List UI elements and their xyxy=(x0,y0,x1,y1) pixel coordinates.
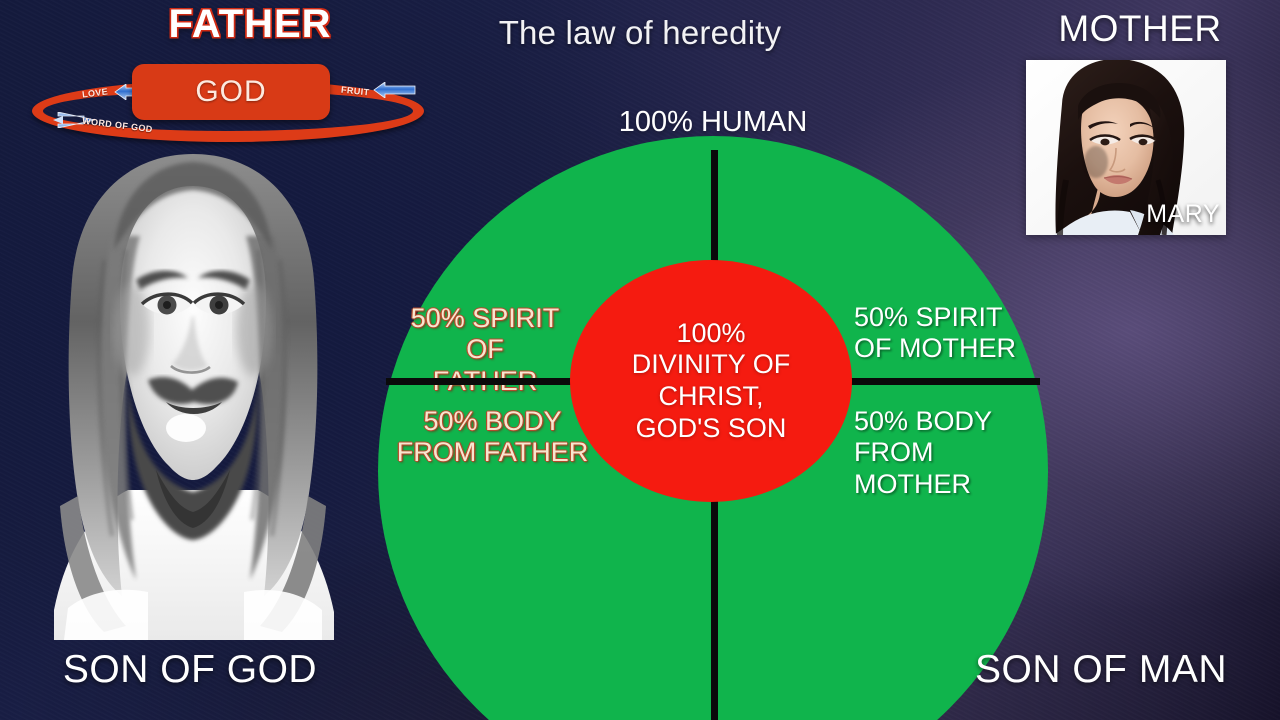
quad-line: 50% BODY xyxy=(854,406,1054,437)
father-heading: FATHER xyxy=(110,2,390,47)
god-plate-label: GOD xyxy=(195,75,266,109)
slide-canvas: The law of heredity FATHER LOVE FRUIT WO… xyxy=(0,0,1280,720)
quad-line: 50% SPIRIT OF xyxy=(390,303,580,366)
quadrant-body-from-father: 50% BODY FROM FATHER xyxy=(390,406,595,469)
quadrant-spirit-of-mother: 50% SPIRIT OF MOTHER xyxy=(854,302,1054,365)
label-100-percent-human: 100% HUMAN xyxy=(378,106,1048,139)
heredity-diagram: 100% HUMAN 50% SPIRIT OF FATHER 50% BODY… xyxy=(378,136,1048,720)
quad-line: OF MOTHER xyxy=(854,333,1054,364)
mother-heading: MOTHER xyxy=(1000,8,1280,50)
core-text-block: 100% DIVINITY OF CHRIST, GOD'S SON xyxy=(632,318,791,444)
core-line: DIVINITY OF xyxy=(632,349,791,381)
jesus-portrait-image xyxy=(8,140,378,640)
quadrant-body-from-mother: 50% BODY FROM MOTHER xyxy=(854,406,1054,500)
god-plate: GOD xyxy=(132,64,330,120)
quad-line: 50% BODY xyxy=(390,406,595,437)
red-core-circle: 100% DIVINITY OF CHRIST, GOD'S SON xyxy=(570,260,852,502)
quad-line: 50% SPIRIT xyxy=(854,302,1054,333)
quad-line: FROM FATHER xyxy=(390,437,595,468)
mary-label: MARY xyxy=(1146,200,1220,229)
son-of-god-caption: SON OF GOD xyxy=(20,648,360,692)
quad-line: FROM xyxy=(854,437,1054,468)
fruit-arrow-icon xyxy=(373,82,417,98)
core-line: GOD'S SON xyxy=(632,413,791,445)
son-of-man-caption: SON OF MAN xyxy=(936,648,1266,692)
core-line: 100% xyxy=(632,318,791,350)
core-line: CHRIST, xyxy=(632,381,791,413)
god-halo-badge: LOVE FRUIT WORD OF GOD GOD xyxy=(18,62,438,152)
quad-line: MOTHER xyxy=(854,469,1054,500)
mary-photo: MARY xyxy=(1026,60,1226,235)
